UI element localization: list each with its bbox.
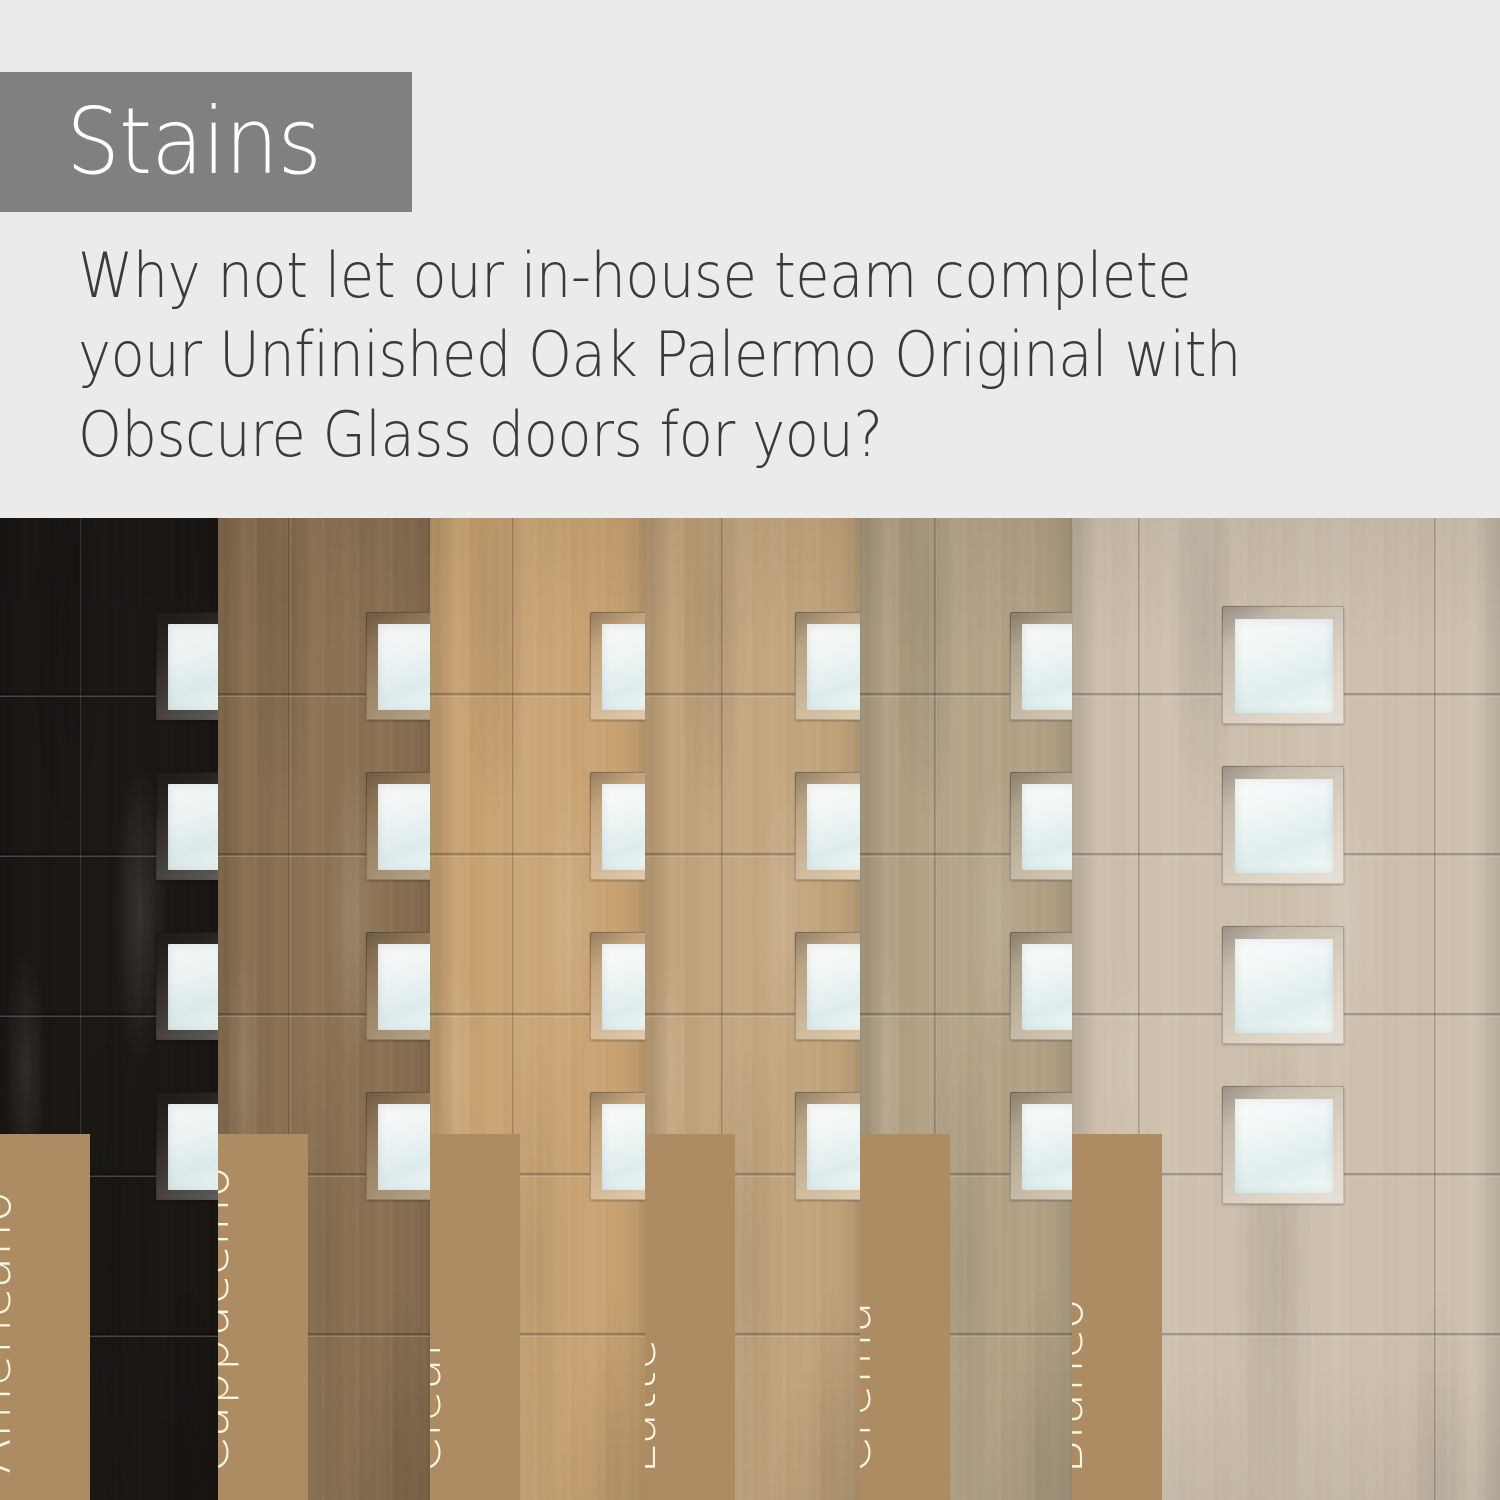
glass-panel <box>366 772 430 880</box>
glass-panel <box>795 932 860 1040</box>
stain-label-text: Crema <box>860 1300 879 1474</box>
obscure-glass <box>168 944 218 1030</box>
obscure-glass <box>807 1104 860 1190</box>
glass-panel <box>590 1092 645 1200</box>
page-title: Stains <box>0 96 321 188</box>
glass-panel <box>795 1092 860 1200</box>
glass-panel <box>366 932 430 1040</box>
glass-panel <box>1222 766 1344 884</box>
header-section: Stains Why not let our in-house team com… <box>0 0 1500 518</box>
obscure-glass <box>168 784 218 870</box>
obscure-glass <box>168 624 218 710</box>
obscure-glass <box>1022 784 1072 870</box>
obscure-glass <box>1022 624 1072 710</box>
obscure-glass <box>378 944 430 1030</box>
obscure-glass <box>1235 779 1333 873</box>
door-swatch-photo: Americano Cappuccino Clear Latte Crema B… <box>0 518 1500 1500</box>
glass-panel <box>156 772 218 880</box>
obscure-glass <box>1022 1104 1072 1190</box>
obscure-glass <box>602 784 645 870</box>
obscure-glass <box>807 944 860 1030</box>
title-banner: Stains <box>0 72 412 212</box>
obscure-glass <box>807 624 860 710</box>
obscure-glass <box>378 784 430 870</box>
glass-panel <box>590 612 645 720</box>
stain-swatch-infographic: Stains Why not let our in-house team com… <box>0 0 1500 1500</box>
stain-label-text: Cappuccino <box>218 1165 237 1474</box>
stain-label-clear[interactable]: Clear <box>430 1134 520 1500</box>
obscure-glass <box>807 784 860 870</box>
obscure-glass <box>602 944 645 1030</box>
obscure-glass <box>602 1104 645 1190</box>
glass-panel <box>156 1092 218 1200</box>
door-stile-line <box>1434 518 1437 1500</box>
obscure-glass <box>1235 939 1333 1033</box>
stain-label-blanco[interactable]: Blanco <box>1072 1134 1162 1500</box>
glass-panel <box>156 932 218 1040</box>
glass-panel <box>1010 1092 1072 1200</box>
subtitle-line-3: Obscure Glass doors for you? <box>78 395 1302 474</box>
subtitle-line-1: Why not let our in-house team complete <box>78 236 1302 315</box>
obscure-glass <box>1235 619 1333 713</box>
stain-label-text: Clear <box>430 1336 449 1475</box>
glass-panel <box>366 612 430 720</box>
stain-label-americano[interactable]: Americano <box>0 1134 90 1500</box>
subtitle-line-2: your Unfinished Oak Palermo Original wit… <box>78 315 1302 394</box>
glass-panel <box>1222 606 1344 724</box>
stain-label-text: Americano <box>0 1190 19 1474</box>
glass-panel <box>590 932 645 1040</box>
glass-panel <box>366 1092 430 1200</box>
stain-label-text: Blanco <box>1072 1297 1091 1474</box>
glass-panel <box>1010 932 1072 1040</box>
stain-label-latte[interactable]: Latte <box>645 1134 735 1500</box>
subtitle-text: Why not let our in-house team complete y… <box>78 236 1302 474</box>
stain-label-text: Latte <box>645 1338 664 1474</box>
obscure-glass <box>1022 944 1072 1030</box>
obscure-glass <box>378 1104 430 1190</box>
stain-label-cappuccino[interactable]: Cappuccino <box>218 1134 308 1500</box>
obscure-glass <box>602 624 645 710</box>
glass-panel <box>1222 1086 1344 1204</box>
glass-panel <box>156 612 218 720</box>
obscure-glass <box>1235 1099 1333 1193</box>
stain-label-crema[interactable]: Crema <box>860 1134 950 1500</box>
glass-panel <box>1010 772 1072 880</box>
obscure-glass <box>168 1104 218 1190</box>
glass-panel <box>1222 926 1344 1044</box>
obscure-glass <box>378 624 430 710</box>
glass-panel <box>590 772 645 880</box>
glass-panel <box>795 772 860 880</box>
glass-panel <box>795 612 860 720</box>
glass-panel <box>1010 612 1072 720</box>
